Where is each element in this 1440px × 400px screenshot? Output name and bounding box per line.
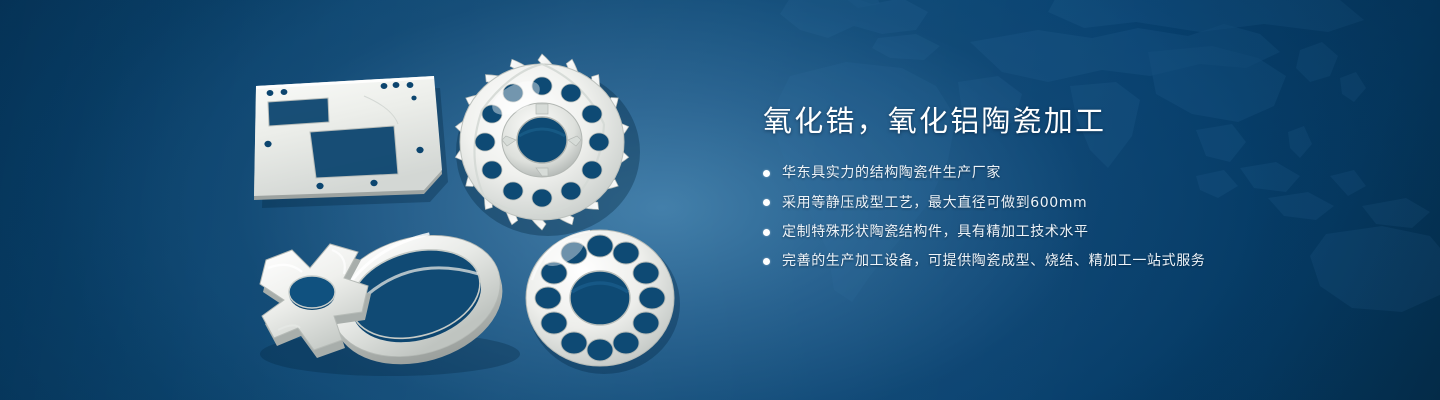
ceramic-mounting-plate xyxy=(248,74,448,204)
ceramic-cross-and-ring xyxy=(240,222,520,377)
feature-item-3: 定制特殊形状陶瓷结构件，具有精加工技术水平 xyxy=(763,222,1403,242)
feature-text-1: 华东具实力的结构陶瓷件生产厂家 xyxy=(782,163,1001,183)
ceramic-processing-banner: 氧化锆，氧化铝陶瓷加工 华东具实力的结构陶瓷件生产厂家 采用等静压成型工艺，最大… xyxy=(0,0,1440,400)
feature-item-4: 完善的生产加工设备，可提供陶瓷成型、烧结、精加工一站式服务 xyxy=(763,251,1403,271)
feature-item-1: 华东具实力的结构陶瓷件生产厂家 xyxy=(763,163,1403,183)
banner-copy: 氧化锆，氧化铝陶瓷加工 华东具实力的结构陶瓷件生产厂家 采用等静压成型工艺，最大… xyxy=(763,104,1403,272)
bullet-dot-icon xyxy=(763,199,770,206)
banner-headline: 氧化锆，氧化铝陶瓷加工 xyxy=(763,104,1403,139)
bullet-dot-icon xyxy=(763,229,770,236)
bullet-dot-icon xyxy=(763,170,770,177)
product-group xyxy=(0,0,760,400)
ceramic-hole-disc xyxy=(512,222,692,377)
ceramic-impeller xyxy=(444,48,644,238)
bullet-dot-icon xyxy=(763,258,770,265)
feature-text-4: 完善的生产加工设备，可提供陶瓷成型、烧结、精加工一站式服务 xyxy=(782,251,1205,271)
feature-list: 华东具实力的结构陶瓷件生产厂家 采用等静压成型工艺，最大直径可做到600mm 定… xyxy=(763,163,1403,271)
feature-text-3: 定制特殊形状陶瓷结构件，具有精加工技术水平 xyxy=(782,222,1089,242)
feature-text-2: 采用等静压成型工艺，最大直径可做到600mm xyxy=(782,193,1087,213)
feature-item-2: 采用等静压成型工艺，最大直径可做到600mm xyxy=(763,193,1403,213)
